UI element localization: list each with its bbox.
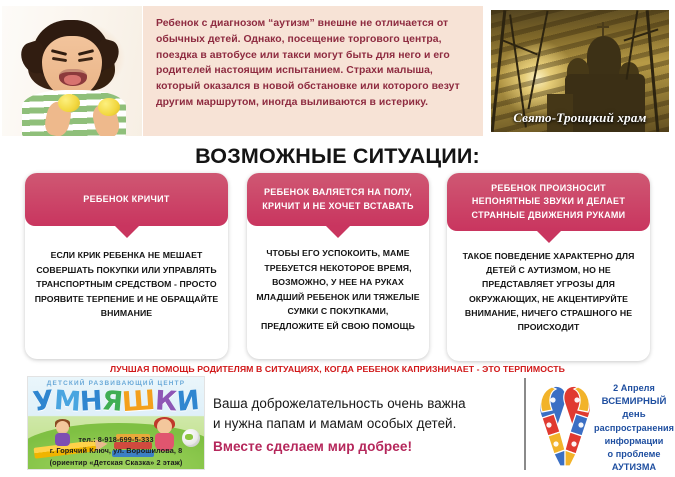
intro-paragraph: Ребенок с диагнозом “аутизм” внешне не о… <box>156 16 471 111</box>
closing-message-line-3: Вместе сделаем мир добрее! <box>213 436 513 457</box>
awareness-line-3: распространения <box>594 422 674 435</box>
temple-photo: Свято-Троицкий храм <box>491 10 669 132</box>
closing-message: Ваша доброжелательность очень важна и ну… <box>213 394 513 457</box>
vertical-divider <box>524 378 526 470</box>
autism-awareness-poster: Ребенок с диагнозом “аутизм” внешне не о… <box>0 0 675 477</box>
lemon-right-icon <box>98 98 120 116</box>
logo-letter: М <box>52 386 80 418</box>
girl-head <box>157 419 172 434</box>
awareness-line-6: АУТИЗМА <box>594 461 674 474</box>
situation-card-2-title: РЕБЕНОК ВАЛЯЕТСЯ НА ПОЛУ, КРИЧИТ И НЕ ХО… <box>247 173 429 226</box>
awareness-line-2: ВСЕМИРНЫЙ день <box>594 395 674 421</box>
temple-photo-frame: Свято-Троицкий храм <box>487 6 673 136</box>
closing-message-line-1: Ваша доброжелательность очень важна <box>213 394 513 414</box>
lemon-left-icon <box>58 94 80 112</box>
logo-contact-info: тел.: 8-918-699-5-333 г. Горячий Ключ, у… <box>28 434 204 468</box>
logo-letter: Ш <box>121 386 156 418</box>
temple-caption: Свято-Троицкий храм <box>491 110 669 126</box>
situation-card-1-title: РЕБЕНОК КРИЧИТ <box>25 173 228 226</box>
tolerance-slogan: ЛУЧШАЯ ПОМОЩЬ РОДИТЕЛЯМ В СИТУАЦИЯХ, КОГ… <box>0 364 675 374</box>
situation-card-1-body: ЕСЛИ КРИК РЕБЕНКА НЕ МЕШАЕТ СОВЕРШАТЬ ПО… <box>25 226 228 331</box>
child-face <box>42 36 102 98</box>
awareness-line-4: информации <box>594 435 674 448</box>
logo-landmark: (ориентир «Детская Сказка» 2 этаж) <box>28 457 204 468</box>
intro-text-panel: Ребенок с диагнозом “аутизм” внешне не о… <box>143 6 483 136</box>
situation-card-1: РЕБЕНОК КРИЧИТ ЕСЛИ КРИК РЕБЕНКА НЕ МЕША… <box>25 173 228 359</box>
situation-cards: РЕБЕНОК КРИЧИТ ЕСЛИ КРИК РЕБЕНКА НЕ МЕША… <box>0 173 675 361</box>
footer-row: ДЕТСКИЙ РАЗВИВАЮЩИЙ ЦЕНТР УМНЯШКИ тел.: … <box>0 376 675 474</box>
logo-letter: И <box>175 386 200 418</box>
top-band: Ребенок с диагнозом “аутизм” внешне не о… <box>0 6 675 136</box>
situation-card-3-body: ТАКОЕ ПОВЕДЕНИЕ ХАРАКТЕРНО ДЛЯ ДЕТЕЙ С А… <box>447 231 650 344</box>
logo-letter: К <box>154 386 177 417</box>
logo-phone: тел.: 8-918-699-5-333 <box>28 434 204 445</box>
closing-message-line-2: и нужна папам и мамам особых детей. <box>213 414 513 434</box>
puzzle-ribbon-icon <box>534 380 596 468</box>
umnyashki-logo-card: ДЕТСКИЙ РАЗВИВАЮЩИЙ ЦЕНТР УМНЯШКИ тел.: … <box>27 376 205 470</box>
logo-wordmark: УМНЯШКИ <box>28 387 204 417</box>
logo-address: г. Горячий Ключ, ул. Ворошилова, 8 <box>28 445 204 456</box>
situation-card-3-title: РЕБЕНОК ПРОИЗНОСИТ НЕПОНЯТНЫЕ ЗВУКИ И ДЕ… <box>447 173 650 231</box>
page-title: ВОЗМОЖНЫЕ СИТУАЦИИ: <box>0 144 675 169</box>
situation-card-3: РЕБЕНОК ПРОИЗНОСИТ НЕПОНЯТНЫЕ ЗВУКИ И ДЕ… <box>447 173 650 361</box>
situation-card-2-body: ЧТОБЫ ЕГО УСПОКОИТЬ, МАМЕ ТРЕБУЕТСЯ НЕКО… <box>247 226 429 344</box>
autism-awareness-block: 2 Апреля ВСЕМИРНЫЙ день распространения … <box>534 376 674 472</box>
awareness-day-text: 2 Апреля ВСЕМИРНЫЙ день распространения … <box>594 382 674 474</box>
awareness-line-5: о проблеме <box>594 448 674 461</box>
logo-letter: Я <box>101 386 124 418</box>
crying-child-photo <box>2 6 142 136</box>
child-tongue <box>64 75 81 85</box>
logo-letter: Н <box>79 386 103 417</box>
temple-dome-main <box>587 36 621 76</box>
awareness-line-1: 2 Апреля <box>594 382 674 395</box>
situation-card-2: РЕБЕНОК ВАЛЯЕТСЯ НА ПОЛУ, КРИЧИТ И НЕ ХО… <box>247 173 429 359</box>
logo-letter: У <box>32 386 55 418</box>
